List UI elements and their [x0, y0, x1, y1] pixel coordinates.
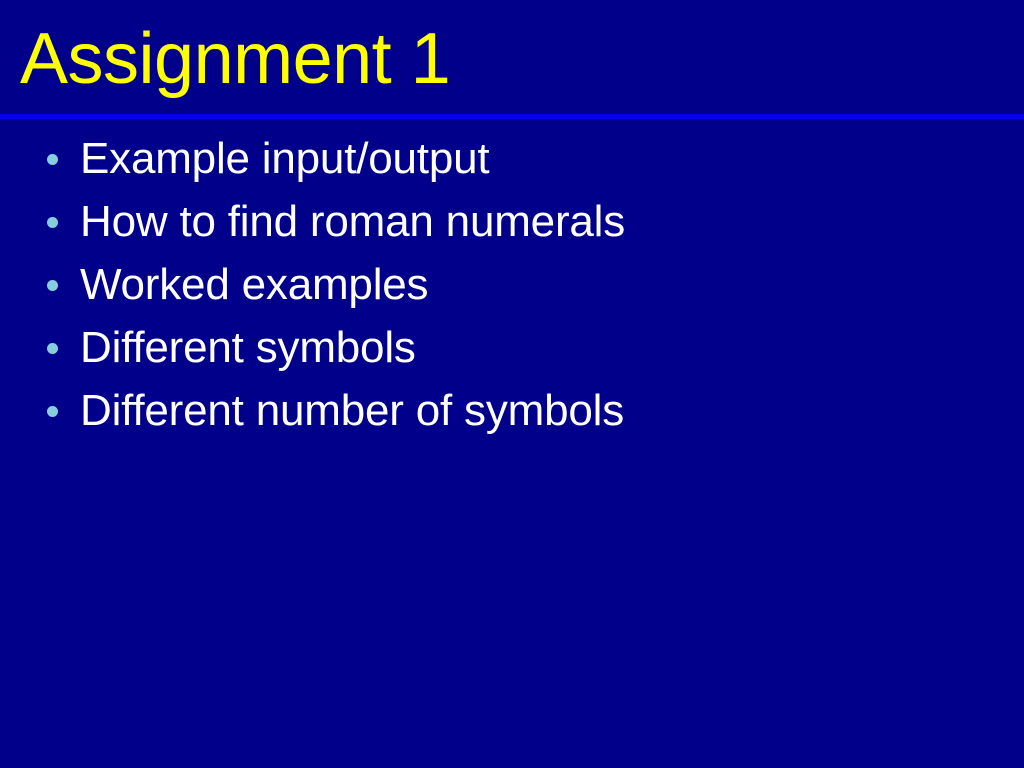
bullet-list: Example input/output How to find roman n…: [0, 127, 1024, 442]
disc-bullet-icon: [47, 154, 58, 165]
list-item-label: Worked examples: [80, 262, 428, 308]
title-divider: [0, 114, 1024, 119]
disc-bullet-icon: [47, 280, 58, 291]
list-item-label: Example input/output: [80, 136, 489, 182]
list-item: Worked examples: [0, 253, 1024, 316]
disc-bullet-icon: [47, 343, 58, 354]
slide-title: Assignment 1: [20, 23, 450, 95]
list-item: Different number of symbols: [0, 379, 1024, 442]
list-item-label: Different symbols: [80, 325, 416, 371]
presentation-slide: Assignment 1 Example input/output How to…: [0, 0, 1024, 768]
list-item: Different symbols: [0, 316, 1024, 379]
list-item: How to find roman numerals: [0, 190, 1024, 253]
list-item-label: Different number of symbols: [80, 388, 624, 434]
disc-bullet-icon: [47, 406, 58, 417]
list-item: Example input/output: [0, 127, 1024, 190]
list-item-label: How to find roman numerals: [80, 199, 625, 245]
disc-bullet-icon: [47, 217, 58, 228]
